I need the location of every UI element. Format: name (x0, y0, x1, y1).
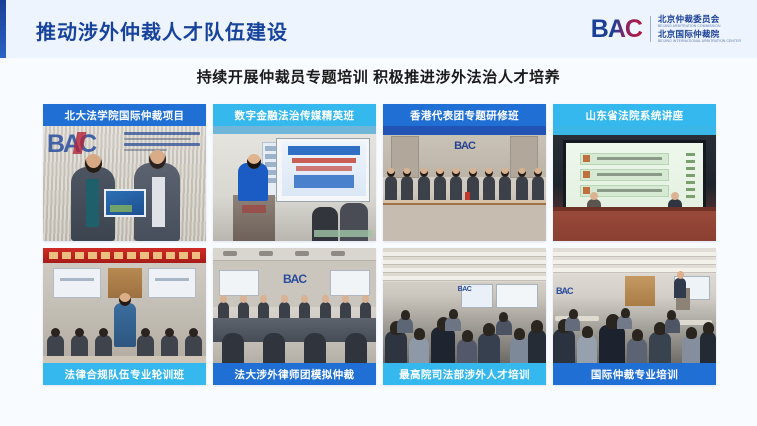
card-caption: 法律合规队伍专业轮训班 (43, 363, 206, 385)
card-caption: 最高院司法部涉外人才培训 (383, 363, 546, 385)
card-caption: 数字金融法治传媒精英班 (213, 104, 376, 126)
header-accent-bar (0, 0, 6, 58)
bac-logo: BAC 北京仲裁委员会 BEIJING ARBITRATION COMMISSI… (591, 14, 741, 44)
card-photo-plaque-handover-bac-wall: BAC (43, 126, 206, 241)
card-photo-auditorium-large-crowd: BAC (383, 248, 546, 363)
gallery-card[interactable]: 法律合规队伍专业轮训班 (43, 248, 206, 385)
gallery-card[interactable]: 数字金融法治传媒精英班 (213, 104, 376, 241)
card-photo-classroom-speaker-podium (213, 126, 376, 241)
gallery-card[interactable]: 山东省法院系统讲座 (553, 104, 716, 241)
gallery-row-2: 法律合规队伍专业轮训班 BAC 法 (43, 248, 716, 385)
gallery-card[interactable]: BAC (553, 248, 716, 385)
card-photo-training-room-red-banner (43, 248, 206, 363)
card-caption: 国际仲裁专业培训 (553, 363, 716, 385)
card-photo-lecture-hall-big-screen (553, 126, 716, 241)
card-photo-seminar-room-attendees: BAC (553, 248, 716, 363)
card-caption: 法大涉外律师团模拟仲裁 (213, 363, 376, 385)
slide-header: 推动涉外仲裁人才队伍建设 BAC 北京仲裁委员会 BEIJING ARBITRA… (0, 0, 757, 58)
logo-divider (650, 16, 651, 42)
gallery-row-1: 北大法学院国际仲裁项目 BAC 数字金融法治传媒精英班 (43, 104, 716, 241)
logo-en-line-2: BEIJING INTERNATIONAL ARBITRATION CENTER (658, 39, 741, 44)
logo-chinese-text: 北京仲裁委员会 BEIJING ARBITRATION COMMISSION 北… (658, 14, 741, 43)
photo-gallery-grid: 北大法学院国际仲裁项目 BAC 数字金融法治传媒精英班 (43, 104, 716, 385)
gallery-card[interactable]: 香港代表团专题研修班 BAC (383, 104, 546, 241)
logo-cn-line-2: 北京国际仲裁院 (658, 29, 741, 39)
slide-subtitle: 持续开展仲裁员专题培训 积极推进涉外法治人才培养 (0, 66, 757, 87)
logo-cn-line-1: 北京仲裁委员会 (658, 14, 741, 24)
presentation-slide: 推动涉外仲裁人才队伍建设 BAC 北京仲裁委员会 BEIJING ARBITRA… (0, 0, 757, 426)
gallery-card[interactable]: BAC (383, 248, 546, 385)
gallery-card[interactable]: 北大法学院国际仲裁项目 BAC (43, 104, 206, 241)
bac-logo-mark: BAC (591, 17, 648, 42)
gallery-card[interactable]: BAC 法大涉外律师团模拟仲裁 (213, 248, 376, 385)
card-caption: 山东省法院系统讲座 (553, 104, 716, 126)
page-title: 推动涉外仲裁人才队伍建设 (36, 16, 288, 45)
card-caption: 香港代表团专题研修班 (383, 104, 546, 126)
card-caption: 北大法学院国际仲裁项目 (43, 104, 206, 126)
card-photo-moot-arbitration-hearing: BAC (213, 248, 376, 363)
card-photo-conference-table-delegation: BAC (383, 126, 546, 241)
